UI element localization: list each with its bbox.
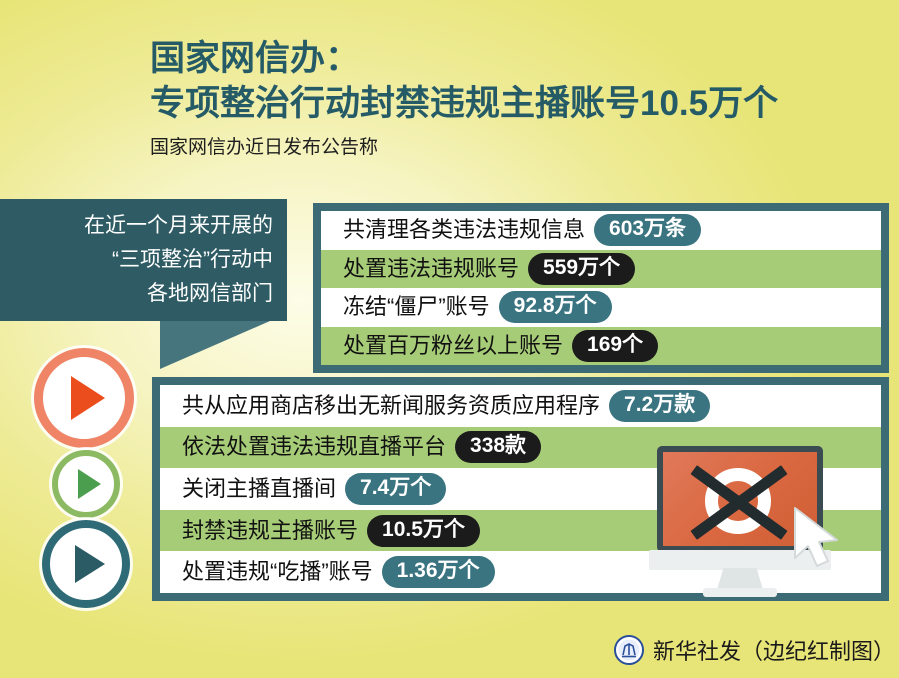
row-value-badge: 7.2万款 (609, 390, 710, 422)
data-row: 处置百万粉丝以上账号 169个 (321, 327, 881, 366)
cursor-arrow-icon (791, 506, 849, 570)
speech-bubble-line-1: 在近一个月来开展的 (14, 209, 273, 243)
page-title-line1: 国家网信办： (150, 38, 890, 80)
row-label: 关闭主播直播间 (182, 478, 336, 500)
data-row: 处置违法违规账号 559万个 (321, 250, 881, 289)
row-label: 处置百万粉丝以上账号 (343, 335, 563, 357)
header: 国家网信办： 专项整治行动封禁违规主播账号10.5万个 国家网信办近日发布公告称 (150, 38, 890, 161)
footer: 新华社发（边纪红制图） (614, 634, 895, 666)
row-label: 共从应用商店移出无新闻服务资质应用程序 (182, 395, 600, 417)
row-label: 封禁违规主播账号 (182, 520, 358, 542)
row-value-badge: 169个 (572, 330, 658, 362)
speech-bubble-line-2: “三项整治”行动中 (14, 243, 273, 277)
speech-bubble-line-3: 各地网信部门 (14, 277, 273, 311)
row-label: 处置违规“吃播”账号 (182, 561, 373, 583)
speech-bubble-tail (160, 321, 270, 369)
infographic-canvas: 国家网信办： 专项整治行动封禁违规主播账号10.5万个 国家网信办近日发布公告称… (0, 0, 899, 678)
xinhua-logo (614, 635, 644, 665)
monitor-neck (717, 568, 763, 590)
data-row: 冻结“僵尸”账号 92.8万个 (321, 288, 881, 327)
panel-one-rows: 共清理各类违法违规信息 603万条 处置违法违规账号 559万个 冻结“僵尸”账… (321, 211, 881, 365)
play-triangle-icon (75, 545, 105, 583)
row-label: 冻结“僵尸”账号 (343, 296, 490, 318)
row-label: 处置违法违规账号 (343, 258, 519, 280)
page-title-line2: 专项整治行动封禁违规主播账号10.5万个 (150, 82, 890, 126)
row-value-badge: 7.4万个 (345, 473, 446, 505)
row-value-badge: 1.36万个 (382, 556, 495, 588)
data-row: 共清理各类违法违规信息 603万条 (321, 211, 881, 250)
page-subtitle: 国家网信办近日发布公告称 (150, 135, 890, 161)
data-row: 共从应用商店移出无新闻服务资质应用程序 7.2万款 (160, 385, 881, 427)
monitor-blocked-icon (649, 446, 867, 606)
row-label: 共清理各类违法违规信息 (343, 219, 585, 241)
row-value-badge: 603万条 (594, 214, 701, 246)
play-button-teal (42, 520, 130, 608)
monitor-foot (703, 588, 777, 597)
row-label: 依法处置违法违规直播平台 (182, 436, 446, 458)
footer-credit: 新华社发（边纪红制图） (653, 634, 895, 666)
play-button-green (52, 450, 120, 518)
play-triangle-icon (78, 469, 101, 499)
data-panel-one: 共清理各类违法违规信息 603万条 处置违法违规账号 559万个 冻结“僵尸”账… (313, 203, 889, 373)
speech-bubble: 在近一个月来开展的 “三项整治”行动中 各地网信部门 (0, 199, 287, 321)
row-value-badge: 10.5万个 (367, 515, 480, 547)
play-triangle-icon (71, 376, 105, 420)
row-value-badge: 92.8万个 (499, 291, 612, 323)
play-button-orange (34, 348, 134, 448)
row-value-badge: 338款 (455, 431, 541, 463)
row-value-badge: 559万个 (528, 253, 635, 285)
